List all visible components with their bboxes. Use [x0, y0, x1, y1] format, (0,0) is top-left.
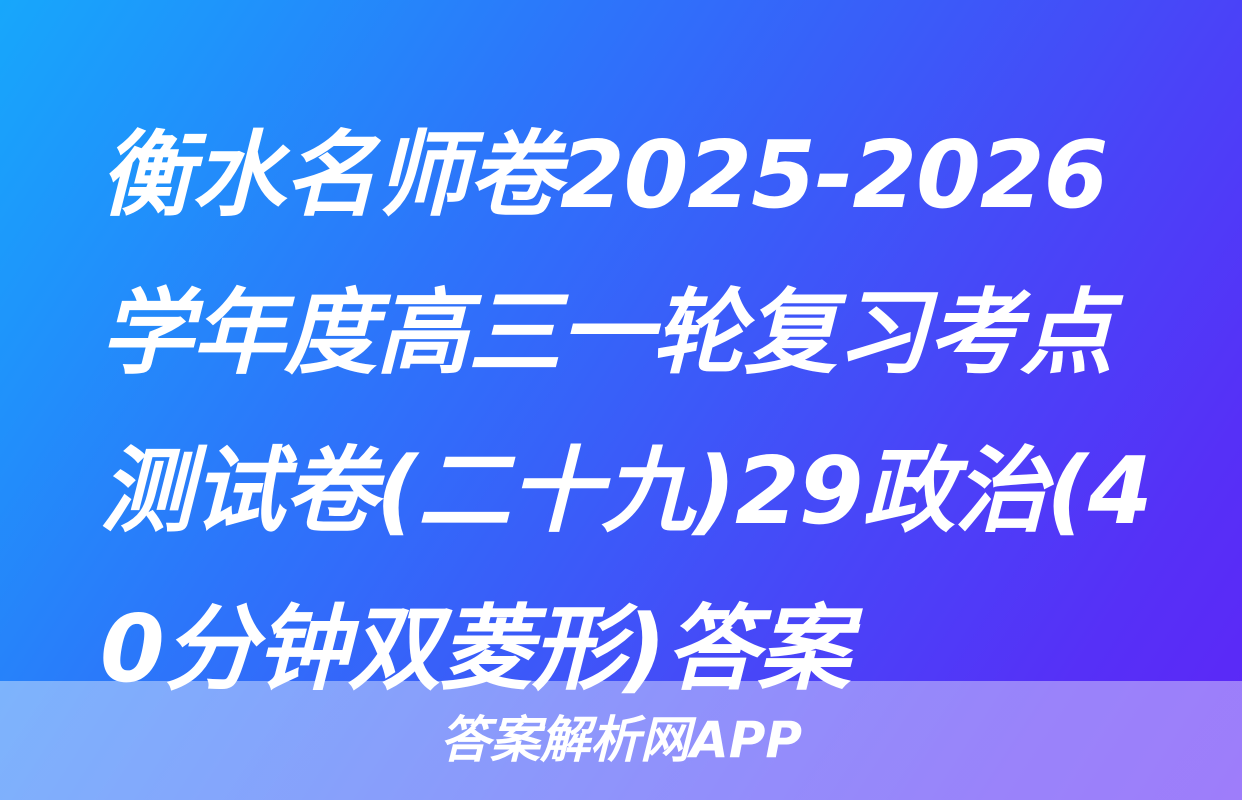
title-line-3: 测试卷(二十九)29政治(4 [100, 412, 1160, 570]
watermark-label: 答案解析网APP [0, 700, 1242, 772]
title-line-1: 衡水名师卷2025-2026 [100, 96, 1160, 254]
title-line-2: 学年度高三一轮复习考点 [100, 254, 1160, 412]
page-title: 衡水名师卷2025-2026 学年度高三一轮复习考点 测试卷(二十九)29政治(… [100, 96, 1160, 728]
cover-canvas: 衡水名师卷2025-2026 学年度高三一轮复习考点 测试卷(二十九)29政治(… [0, 0, 1242, 800]
